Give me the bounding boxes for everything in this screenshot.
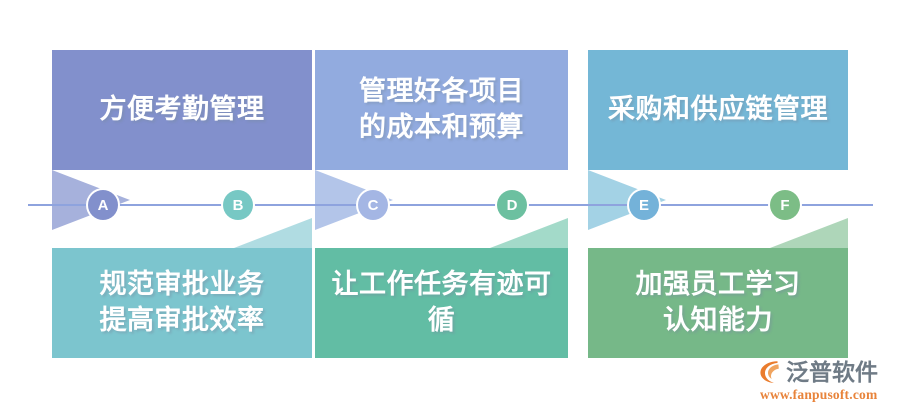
timeline-node-d: D	[497, 190, 527, 220]
timeline-node-a: A	[88, 190, 118, 220]
timeline-node-d-label: D	[507, 197, 518, 214]
top-card-c: 采购和供应链管理	[588, 50, 848, 170]
brand-logo: 泛普软件 www.fanpusoft.com	[758, 358, 896, 404]
timeline-node-c-label: C	[368, 197, 379, 214]
timeline-node-b-label: B	[233, 197, 244, 214]
bottom-card-d-ribbon-tail	[234, 218, 312, 248]
bottom-card-e-ribbon-tail	[490, 218, 568, 248]
brand-wordmark: 泛普软件	[786, 359, 878, 385]
timeline-node-e-label: E	[639, 197, 649, 214]
top-card-c-label: 采购和供应链管理	[600, 92, 836, 128]
timeline-node-c: C	[358, 190, 388, 220]
timeline-node-f-label: F	[780, 197, 789, 214]
bottom-card-d-label: 规范审批业务 提高审批效率	[92, 267, 273, 338]
timeline-node-a-label: A	[98, 197, 109, 214]
top-card-a: 方便考勤管理	[52, 50, 312, 170]
timeline-node-e: E	[629, 190, 659, 220]
infographic-canvas: 方便考勤管理 管理好各项目 的成本和预算 采购和供应链管理 A B C D E …	[0, 0, 900, 408]
bottom-card-f-ribbon-tail	[770, 218, 848, 248]
bottom-card-d: 规范审批业务 提高审批效率	[52, 248, 312, 358]
brand-logo-row: 泛普软件	[758, 358, 896, 386]
top-card-b: 管理好各项目 的成本和预算	[315, 50, 568, 170]
timeline-node-f: F	[770, 190, 800, 220]
top-card-b-label: 管理好各项目 的成本和预算	[351, 74, 532, 145]
timeline-axis	[28, 204, 873, 206]
bottom-card-f: 加强员工学习 认知能力	[588, 248, 848, 358]
bottom-card-e-label: 让工作任务有迹可循	[315, 267, 568, 338]
bottom-card-f-label: 加强员工学习 认知能力	[628, 267, 809, 338]
timeline-node-b: B	[223, 190, 253, 220]
brand-url: www.fanpusoft.com	[760, 387, 896, 403]
top-card-a-label: 方便考勤管理	[92, 92, 273, 128]
fanpu-swoosh-icon	[758, 359, 784, 385]
bottom-card-e: 让工作任务有迹可循	[315, 248, 568, 358]
